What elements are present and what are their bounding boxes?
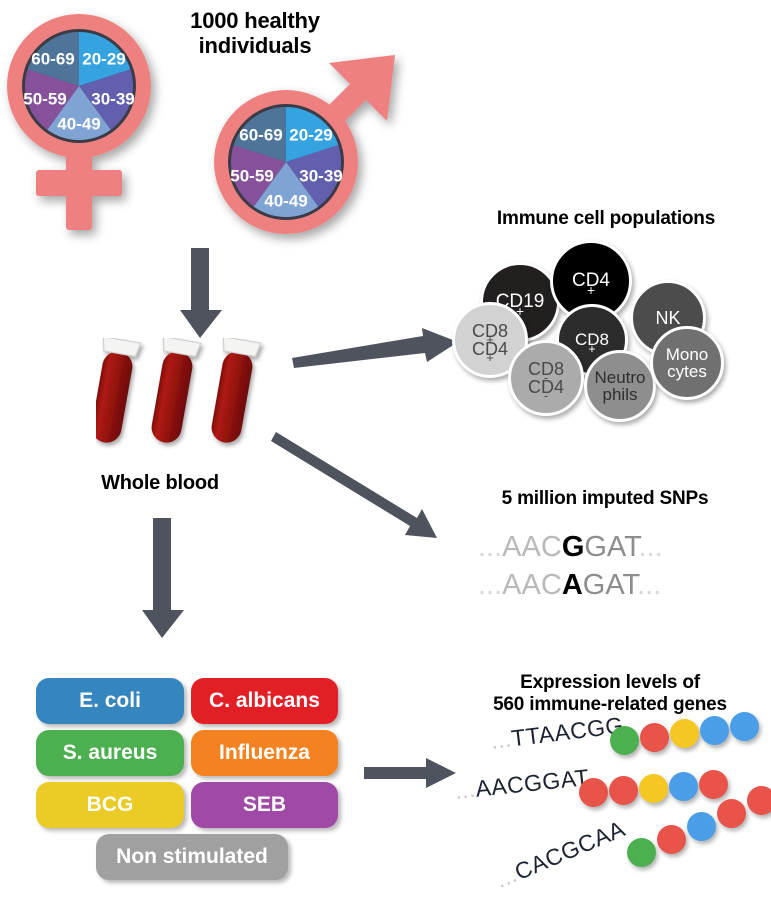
stimulus-bcg[interactable]: BCG (36, 782, 184, 828)
gene-bead (639, 774, 668, 803)
gene-bead (627, 838, 656, 867)
arrow-cohort-to-blood (178, 248, 224, 340)
snp-sequence-row: ...AACAGAT... (478, 566, 758, 604)
gene-bead (610, 726, 639, 755)
arrow-blood-to-stimuli (140, 518, 186, 640)
gene-bead (699, 770, 728, 799)
immune-cell-label: Mono (666, 346, 709, 363)
male-symbol: 20-29 30-39 40-49 50-59 60-69 (206, 54, 406, 244)
gene-sequence-bases: TTAACGG (510, 712, 625, 752)
immune-cell-label-line2: CD4- (528, 378, 564, 396)
snp-sequence-row: ...AACGGAT... (478, 528, 758, 566)
gene-sequence-bases: CACGCAA (511, 815, 629, 885)
label-whole-blood: Whole blood (60, 472, 260, 495)
svg-text:50-59: 50-59 (23, 89, 66, 108)
immune-cell-label: CD8+ (575, 331, 609, 348)
snp-suffix-dots: ... (639, 531, 663, 563)
stimulus-seb[interactable]: SEB (191, 782, 338, 828)
gene-bead (700, 716, 729, 745)
gene-bead (717, 799, 746, 828)
svg-text:40-49: 40-49 (264, 191, 307, 210)
arrow-stimuli-to-genes (364, 758, 460, 792)
immune-cell-neutronegphils[interactable]: Neutrophils (584, 350, 656, 422)
page-title-cohort: 1000 healthy individuals (160, 8, 350, 59)
female-symbol: 20-29 30-39 40-49 50-59 60-69 (4, 12, 184, 240)
stimulus-label: BCG (87, 793, 134, 817)
gene-bead (687, 812, 716, 841)
stimulus-label: SEB (243, 793, 286, 817)
snp-prefix-dots: ... (478, 569, 502, 601)
immune-cell-label-line2: CD4+ (472, 340, 508, 358)
stimulus-non-stimulated[interactable]: Non stimulated (96, 834, 288, 880)
svg-text:20-29: 20-29 (289, 125, 332, 144)
svg-text:30-39: 30-39 (299, 166, 342, 185)
immune-cell-label: CD8- (528, 360, 564, 378)
gene-bead (657, 825, 686, 854)
snp-suffix-dots: ... (637, 569, 661, 601)
immune-cell-label: NK (655, 309, 680, 327)
gene-sequence-text: ...TTAACGG (489, 712, 625, 755)
gene-bead (747, 786, 771, 815)
svg-text:30-39: 30-39 (91, 89, 134, 108)
immune-cell-mononegcytes[interactable]: Monocytes (650, 326, 724, 400)
svg-text:60-69: 60-69 (31, 49, 74, 68)
stimulus-label: E. coli (79, 689, 141, 713)
gene-bead (730, 712, 759, 741)
gene-sequence-text: ...AACGGAT (454, 764, 591, 805)
stimulus-influenza[interactable]: Influenza (191, 730, 338, 776)
section-title-expression: Expression levels of 560 immune-related … (455, 672, 765, 716)
snp-sequences: ...AACGGAT... ...AACAGAT... (478, 528, 758, 604)
gene-bead (669, 772, 698, 801)
svg-text:40-49: 40-49 (57, 114, 100, 133)
svg-text:60-69: 60-69 (239, 125, 282, 144)
gene-sequence-bases: AACGGAT (474, 764, 590, 802)
snp-bases-left: AAC (502, 531, 562, 563)
stimulus-label: Influenza (219, 741, 310, 765)
gene-bead (670, 719, 699, 748)
stimulus-c-albicans[interactable]: C. albicans (191, 678, 338, 724)
gene-sequence-ellipsis: ... (454, 776, 477, 804)
immune-cell-label: CD4+ (572, 271, 610, 290)
stimulus-label: C. albicans (209, 689, 320, 713)
gene-expression-chains: ...TTAACGG...AACGGAT...CACGCAA (455, 716, 771, 916)
section-title-immune-cells: Immune cell populations (446, 208, 766, 230)
gene-bead (579, 778, 608, 807)
blood-tubes-icon (96, 338, 276, 468)
stimulus-label: S. aureus (63, 741, 158, 765)
snp-key-base: G (562, 531, 585, 563)
figure-canvas: 1000 healthy individuals (0, 0, 771, 922)
svg-text:50-59: 50-59 (230, 166, 273, 185)
snp-bases-left: AAC (502, 569, 562, 601)
gene-sequence-text: ...CACGCAA (492, 815, 630, 894)
section-title-snps: 5 million imputed SNPs (450, 488, 760, 510)
svg-text:20-29: 20-29 (82, 49, 125, 68)
arrow-blood-to-immune (292, 328, 460, 374)
immune-cell-label: CD8+ (472, 322, 508, 340)
snp-prefix-dots: ... (478, 531, 502, 563)
stimulus-e-coli[interactable]: E. coli (36, 678, 184, 724)
gene-bead (640, 723, 669, 752)
snp-bases-right: GAT (584, 531, 638, 563)
arrow-blood-to-snps (276, 432, 452, 536)
snp-bases-right: GAT (583, 569, 637, 601)
immune-cell-cluster: CD19+CD4+NKCD8+CD8+CD4+CD8-CD4-Neutrophi… (452, 240, 762, 425)
immune-cell-label: Neutro (594, 369, 645, 386)
snp-key-base: A (562, 569, 583, 601)
stimulus-label: Non stimulated (116, 845, 268, 869)
immune-cell-cd8negnegcd4neg[interactable]: CD8-CD4- (508, 340, 584, 416)
immune-cell-label-line2: cytes (667, 363, 707, 380)
stimulus-s-aureus[interactable]: S. aureus (36, 730, 184, 776)
gene-bead (609, 776, 638, 805)
immune-cell-label-line2: phils (603, 386, 638, 403)
